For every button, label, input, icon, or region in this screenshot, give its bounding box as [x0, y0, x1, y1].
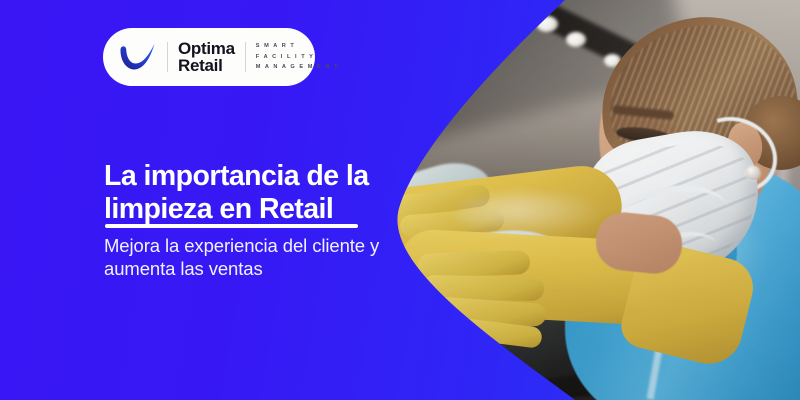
brand-name-line2: Retail [178, 57, 235, 74]
brand-logo-badge[interactable]: Optima Retail S M A R T F A C I L I T Y … [103, 28, 315, 86]
headline: La importancia de la limpieza en Retail [104, 160, 404, 226]
brand-tagline-line3: M A N A G E M E N T [256, 62, 339, 72]
headline-divider [105, 224, 358, 228]
logo-divider [167, 42, 168, 72]
brand-tagline: S M A R T F A C I L I T Y M A N A G E M … [256, 41, 339, 72]
subheadline: Mejora la experiencia del cliente y aume… [104, 234, 404, 281]
brand-tagline-line2: F A C I L I T Y [256, 52, 339, 62]
brand-tagline-line1: S M A R T [256, 41, 339, 51]
banner-content: Optima Retail S M A R T F A C I L I T Y … [0, 0, 800, 400]
brand-name: Optima Retail [178, 40, 235, 75]
logo-divider [245, 42, 246, 72]
hero-banner: Optima Retail S M A R T F A C I L I T Y … [0, 0, 800, 400]
brand-name-line1: Optima [178, 40, 235, 57]
check-swoosh-icon [117, 40, 157, 74]
